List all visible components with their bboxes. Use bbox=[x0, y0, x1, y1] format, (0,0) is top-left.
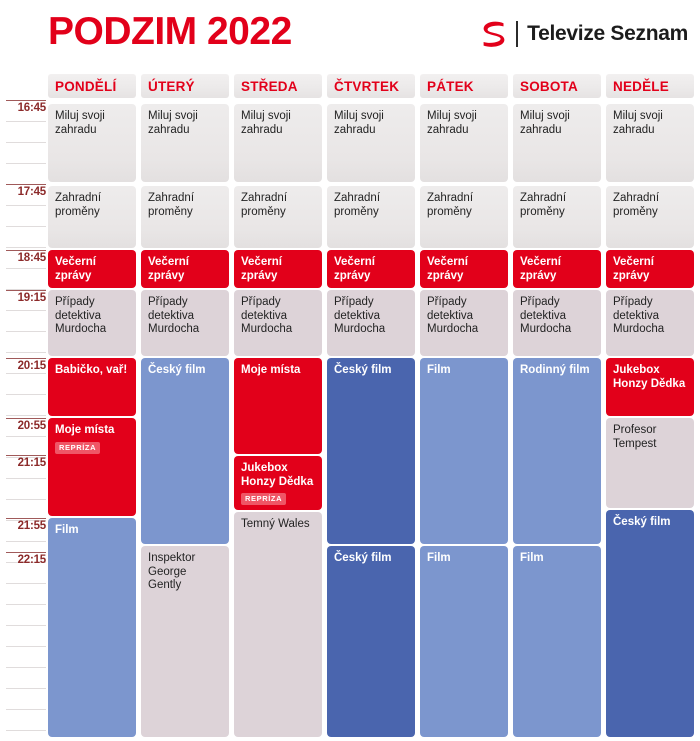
day-header-6[interactable]: SOBOTA bbox=[513, 74, 601, 98]
program-title: Rodinný film bbox=[520, 364, 594, 378]
day-column-6: Miluj svoji zahraduZahradní proměnyVečer… bbox=[513, 100, 601, 741]
program-title: Případy detektiva Murdocha bbox=[148, 296, 222, 337]
program-block[interactable]: Jukebox Honzy DědkaREPRÍZA bbox=[234, 456, 322, 510]
program-title: Miluj svoji zahradu bbox=[520, 110, 594, 137]
brand-name: Televize Seznam bbox=[527, 22, 688, 46]
program-block[interactable]: Případy detektiva Murdocha bbox=[141, 290, 229, 356]
program-block[interactable]: Miluj svoji zahradu bbox=[48, 104, 136, 182]
program-title: Případy detektiva Murdocha bbox=[520, 296, 594, 337]
day-column-3: Miluj svoji zahraduZahradní proměnyVečer… bbox=[234, 100, 322, 741]
program-block[interactable]: Zahradní proměny bbox=[141, 186, 229, 248]
program-block[interactable]: Večerní zprávy bbox=[48, 250, 136, 288]
program-title: Miluj svoji zahradu bbox=[613, 110, 687, 137]
day-column-1: Miluj svoji zahraduZahradní proměnyVečer… bbox=[48, 100, 136, 741]
program-block[interactable]: Jukebox Honzy Dědka bbox=[606, 358, 694, 416]
program-block[interactable]: Případy detektiva Murdocha bbox=[513, 290, 601, 356]
program-block[interactable]: Český film bbox=[606, 510, 694, 737]
program-title: Večerní zprávy bbox=[148, 256, 222, 283]
program-block[interactable]: Případy detektiva Murdocha bbox=[327, 290, 415, 356]
day-column-4: Miluj svoji zahraduZahradní proměnyVečer… bbox=[327, 100, 415, 741]
program-block[interactable]: Zahradní proměny bbox=[234, 186, 322, 248]
program-title: Případy detektiva Murdocha bbox=[613, 296, 687, 337]
repriza-badge: REPRÍZA bbox=[241, 493, 286, 505]
program-title: Večerní zprávy bbox=[520, 256, 594, 283]
day-header-2[interactable]: ÚTERÝ bbox=[141, 74, 229, 98]
program-title: Zahradní proměny bbox=[427, 192, 501, 219]
program-title: Jukebox Honzy Dědka bbox=[241, 462, 315, 489]
program-block[interactable]: Film bbox=[420, 546, 508, 737]
program-block[interactable]: Film bbox=[513, 546, 601, 737]
program-title: Miluj svoji zahradu bbox=[148, 110, 222, 137]
day-column-7: Miluj svoji zahraduZahradní proměnyVečer… bbox=[606, 100, 694, 741]
program-lanes: Miluj svoji zahraduZahradní proměnyVečer… bbox=[0, 100, 700, 741]
program-title: Babičko, vař! bbox=[55, 364, 129, 378]
program-block[interactable]: Rodinný film bbox=[513, 358, 601, 544]
program-block[interactable]: Miluj svoji zahradu bbox=[327, 104, 415, 182]
program-block[interactable]: Večerní zprávy bbox=[141, 250, 229, 288]
program-title: Večerní zprávy bbox=[427, 256, 501, 283]
program-block[interactable]: Večerní zprávy bbox=[420, 250, 508, 288]
program-title: Temný Wales bbox=[241, 518, 315, 532]
program-block[interactable]: Případy detektiva Murdocha bbox=[48, 290, 136, 356]
program-title: Profesor Tempest bbox=[613, 424, 687, 451]
program-title: Český film bbox=[334, 552, 408, 566]
program-block[interactable]: Inspektor George Gently bbox=[141, 546, 229, 737]
program-title: Zahradní proměny bbox=[148, 192, 222, 219]
program-title: Zahradní proměny bbox=[55, 192, 129, 219]
program-block[interactable]: Večerní zprávy bbox=[606, 250, 694, 288]
program-title: Večerní zprávy bbox=[241, 256, 315, 283]
program-block[interactable]: Zahradní proměny bbox=[513, 186, 601, 248]
program-block[interactable]: Miluj svoji zahradu bbox=[420, 104, 508, 182]
program-title: Film bbox=[427, 364, 501, 378]
program-title: Zahradní proměny bbox=[334, 192, 408, 219]
program-title: Film bbox=[427, 552, 501, 566]
seznam-s-logo-icon bbox=[481, 20, 507, 48]
program-block[interactable]: Miluj svoji zahradu bbox=[513, 104, 601, 182]
program-title: Miluj svoji zahradu bbox=[55, 110, 129, 137]
program-block[interactable]: Miluj svoji zahradu bbox=[606, 104, 694, 182]
program-title: Případy detektiva Murdocha bbox=[334, 296, 408, 337]
day-header-5[interactable]: PÁTEK bbox=[420, 74, 508, 98]
day-header-1[interactable]: PONDĚLÍ bbox=[48, 74, 136, 98]
schedule-grid: 16:4517:4518:4519:1520:1520:5521:1521:55… bbox=[0, 100, 700, 741]
page-header: PODZIM 2022 Televize Seznam bbox=[0, 0, 700, 68]
program-block[interactable]: Český film bbox=[327, 358, 415, 544]
program-title: Film bbox=[520, 552, 594, 566]
program-block[interactable]: Profesor Tempest bbox=[606, 418, 694, 508]
program-title: Moje místa bbox=[241, 364, 315, 378]
program-block[interactable]: Miluj svoji zahradu bbox=[141, 104, 229, 182]
program-title: Inspektor George Gently bbox=[148, 552, 222, 593]
program-block[interactable]: Český film bbox=[141, 358, 229, 544]
program-block[interactable]: Film bbox=[420, 358, 508, 544]
program-title: Zahradní proměny bbox=[241, 192, 315, 219]
program-title: Miluj svoji zahradu bbox=[427, 110, 501, 137]
program-block[interactable]: Film bbox=[48, 518, 136, 737]
day-header-7[interactable]: NEDĚLE bbox=[606, 74, 694, 98]
program-block[interactable]: Případy detektiva Murdocha bbox=[606, 290, 694, 356]
program-title: Moje místa bbox=[55, 424, 129, 438]
program-block[interactable]: Případy detektiva Murdocha bbox=[234, 290, 322, 356]
program-block[interactable]: Český film bbox=[327, 546, 415, 737]
program-title: Večerní zprávy bbox=[334, 256, 408, 283]
program-title: Zahradní proměny bbox=[613, 192, 687, 219]
program-block[interactable]: Zahradní proměny bbox=[606, 186, 694, 248]
day-header-row: PONDĚLÍÚTERÝSTŘEDAČTVRTEKPÁTEKSOBOTANEDĚ… bbox=[0, 74, 700, 100]
brand-divider bbox=[516, 21, 518, 47]
program-block[interactable]: Babičko, vař! bbox=[48, 358, 136, 416]
program-block[interactable]: Zahradní proměny bbox=[327, 186, 415, 248]
program-block[interactable]: Večerní zprávy bbox=[513, 250, 601, 288]
day-header-4[interactable]: ČTVRTEK bbox=[327, 74, 415, 98]
program-block[interactable]: Zahradní proměny bbox=[48, 186, 136, 248]
program-title: Zahradní proměny bbox=[520, 192, 594, 219]
program-block[interactable]: Miluj svoji zahradu bbox=[234, 104, 322, 182]
program-title: Případy detektiva Murdocha bbox=[427, 296, 501, 337]
repriza-badge: REPRÍZA bbox=[55, 442, 100, 454]
program-title: Jukebox Honzy Dědka bbox=[613, 364, 687, 391]
program-title: Případy detektiva Murdocha bbox=[55, 296, 129, 337]
program-title: Miluj svoji zahradu bbox=[334, 110, 408, 137]
program-block[interactable]: Temný Wales bbox=[234, 512, 322, 737]
program-title: Český film bbox=[148, 364, 222, 378]
program-block[interactable]: Večerní zprávy bbox=[327, 250, 415, 288]
program-title: Případy detektiva Murdocha bbox=[241, 296, 315, 337]
day-column-2: Miluj svoji zahraduZahradní proměnyVečer… bbox=[141, 100, 229, 741]
page-title: PODZIM 2022 bbox=[48, 10, 292, 54]
program-title: Film bbox=[55, 524, 129, 538]
day-header-3[interactable]: STŘEDA bbox=[234, 74, 322, 98]
program-block[interactable]: Večerní zprávy bbox=[234, 250, 322, 288]
program-block[interactable]: Moje místa bbox=[234, 358, 322, 454]
day-column-5: Miluj svoji zahraduZahradní proměnyVečer… bbox=[420, 100, 508, 741]
program-title: Večerní zprávy bbox=[55, 256, 129, 283]
program-title: Český film bbox=[613, 516, 687, 530]
program-block[interactable]: Případy detektiva Murdocha bbox=[420, 290, 508, 356]
program-title: Miluj svoji zahradu bbox=[241, 110, 315, 137]
program-title: Český film bbox=[334, 364, 408, 378]
program-title: Večerní zprávy bbox=[613, 256, 687, 283]
brand-lockup: Televize Seznam bbox=[481, 20, 688, 48]
program-block[interactable]: Zahradní proměny bbox=[420, 186, 508, 248]
program-block[interactable]: Moje místaREPRÍZA bbox=[48, 418, 136, 516]
